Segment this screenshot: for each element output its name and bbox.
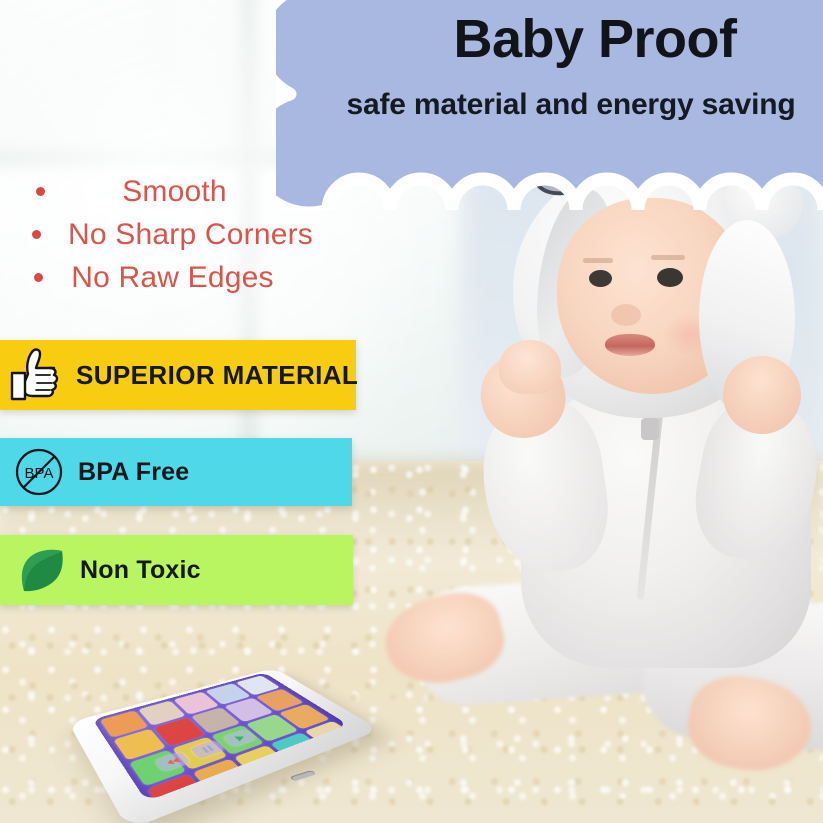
bullet-label: Smooth (45, 175, 348, 209)
baby-nose (611, 304, 641, 326)
badge-label: SUPERIOR MATERIAL (76, 360, 358, 391)
baby-photo (393, 128, 823, 823)
app-icon[interactable] (293, 797, 348, 801)
onesie-zipper-pull (641, 418, 659, 440)
baby-fingers-left (499, 340, 561, 394)
app-icon[interactable] (334, 780, 348, 802)
bpa-icon-text: BPA (25, 465, 54, 482)
leaf-icon (8, 535, 76, 605)
badge-non-toxic: Non Toxic (0, 535, 353, 605)
badge-label: Non Toxic (80, 556, 201, 585)
baby-brow-left (583, 258, 613, 263)
feature-bullet-list: Smooth No Sharp Corners No Raw Edges (18, 170, 348, 299)
baby-eye-right (657, 268, 683, 287)
bullet-label: No Sharp Corners (41, 218, 348, 252)
thumbs-up-icon (2, 340, 74, 410)
cloud-banner: Baby Proof safe material and energy savi… (276, 0, 823, 210)
baby-brow-right (651, 255, 685, 260)
badge-bpa-free: BPA BPA Free (0, 438, 352, 506)
list-item: Smooth (18, 170, 348, 213)
product-banner: Baby Proof safe material and energy savi… (0, 0, 823, 823)
badge-superior-material: SUPERIOR MATERIAL (0, 340, 356, 410)
phone-charging-port (289, 770, 316, 781)
baby-mouth (605, 334, 655, 356)
app-icon[interactable] (261, 769, 327, 801)
baby-eye-left (589, 270, 612, 287)
toy-phone-product (92, 640, 352, 812)
cloud-shape (276, 0, 823, 210)
bullet-dot-icon (36, 187, 45, 196)
bullet-dot-icon (34, 273, 43, 282)
bullet-dot-icon (32, 230, 41, 239)
list-item: No Sharp Corners (18, 213, 348, 256)
bpa-free-icon: BPA (6, 438, 72, 506)
list-item: No Raw Edges (18, 256, 348, 299)
bullet-label: No Raw Edges (43, 261, 348, 295)
badge-label: BPA Free (78, 458, 189, 487)
